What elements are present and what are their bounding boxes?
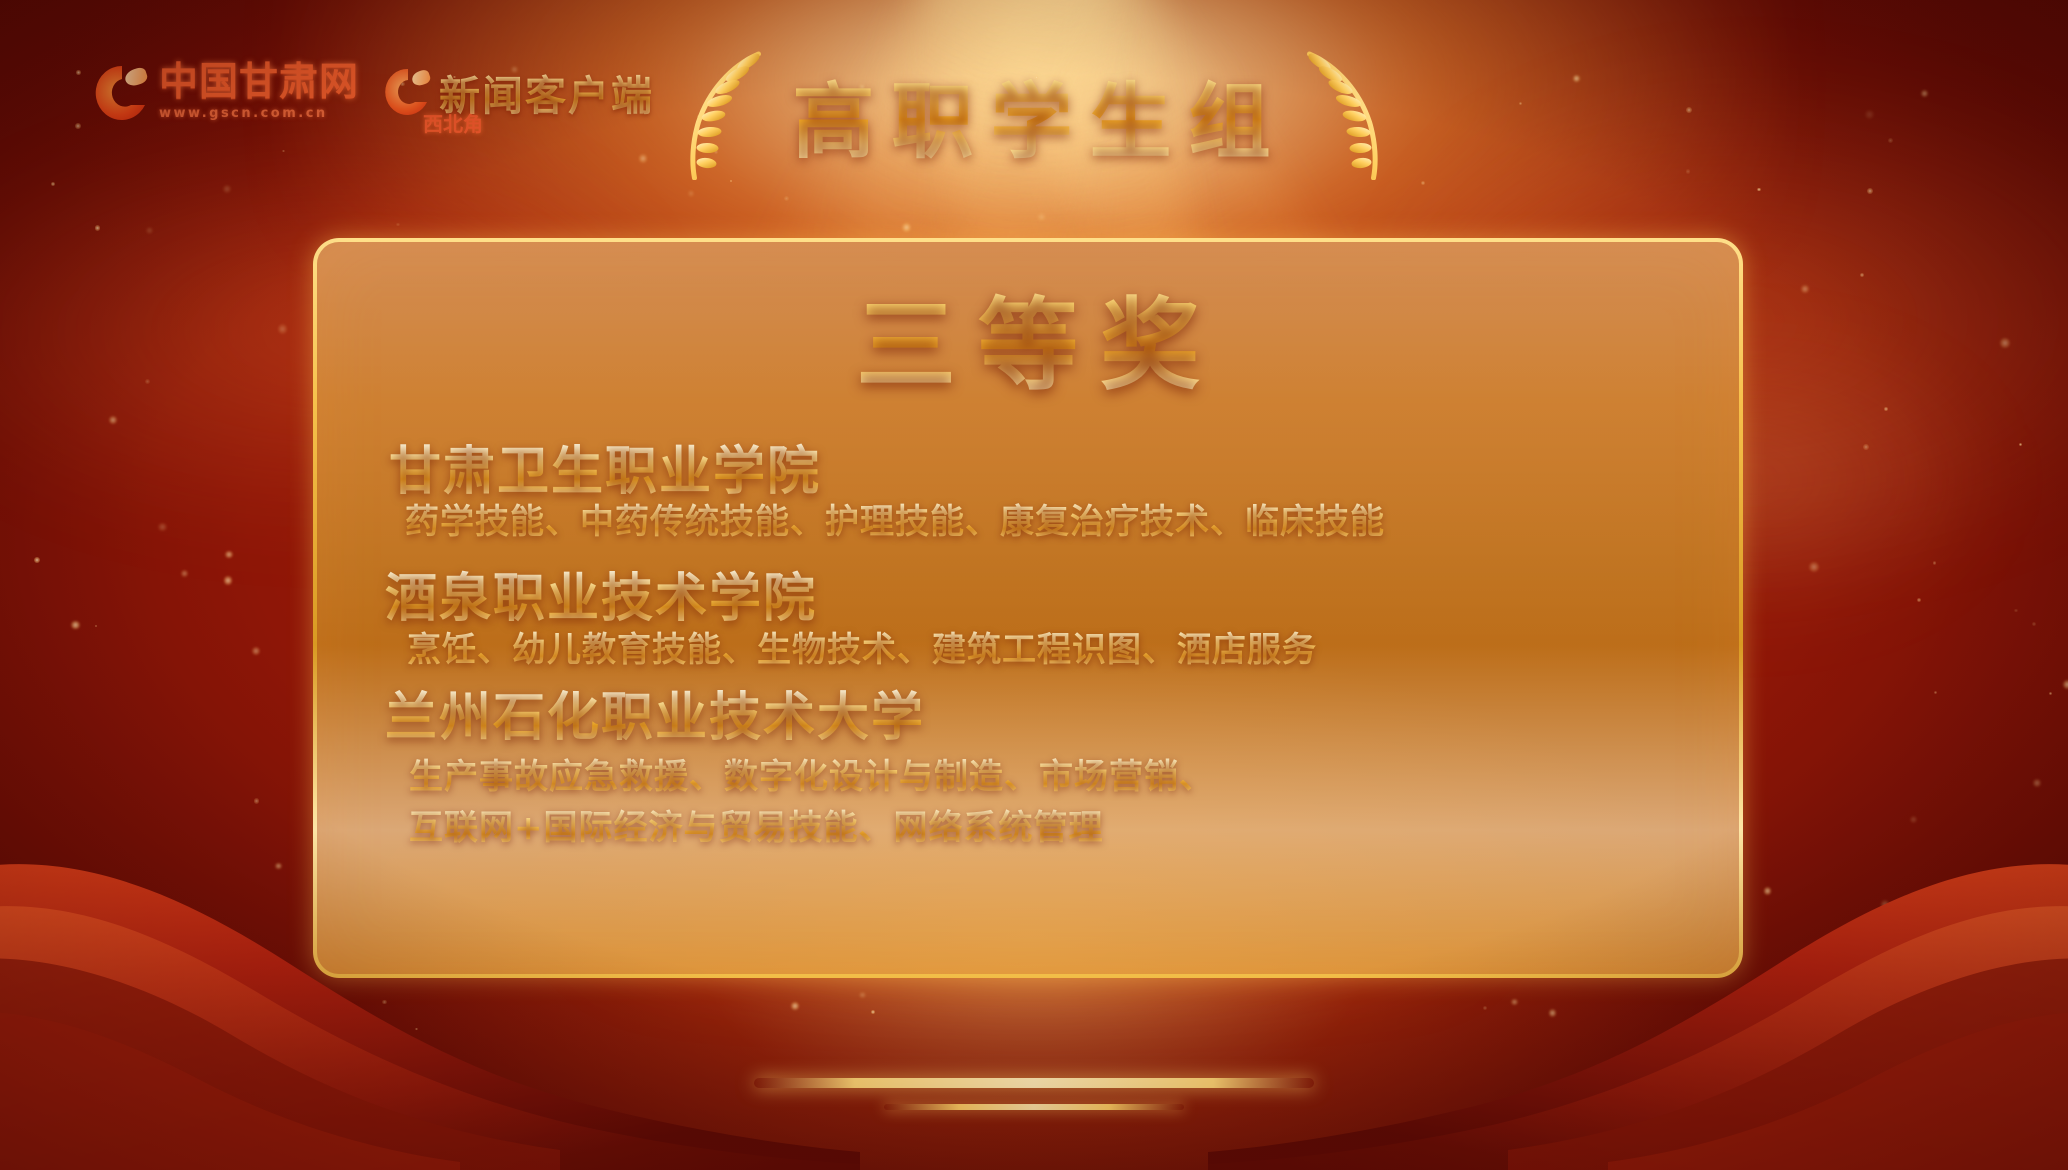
particle	[109, 416, 117, 424]
particle	[1037, 213, 1045, 221]
header: 中国甘肃网 www.gscn.com.cn 西北角 新闻客户端	[0, 0, 2068, 210]
particle	[871, 1010, 875, 1014]
award-plaque: 三等奖 甘肃卫生职业学院 药学技能、中药传统技能、护理技能、康复治疗技术、临床技…	[313, 238, 1743, 978]
particle	[95, 625, 98, 628]
particle	[95, 225, 101, 231]
winner-skills-line: 互联网+国际经济与贸易技能、网络系统管理	[409, 806, 1681, 851]
particle	[1764, 887, 1772, 895]
logo-gscn: 中国甘肃网 www.gscn.com.cn	[95, 63, 359, 121]
wheat-ear-icon	[1302, 48, 1394, 180]
particle	[859, 992, 866, 999]
logo-row: 中国甘肃网 www.gscn.com.cn 西北角 新闻客户端	[95, 62, 654, 122]
particle	[1917, 598, 1922, 603]
winner-skills-line: 烹饪、幼儿教育技能、生物技术、建筑工程识图、酒店服务	[407, 628, 1681, 673]
particle	[181, 570, 188, 577]
ceremony-slide: 中国甘肃网 www.gscn.com.cn 西北角 新闻客户端	[0, 0, 2068, 1170]
particle	[1863, 444, 1869, 450]
particle	[1939, 958, 1946, 965]
particle	[254, 798, 259, 803]
pedestal-bar-lower	[884, 1104, 1184, 1110]
particle	[2063, 680, 2068, 689]
particle	[1737, 1028, 1741, 1032]
winner-school-name: 兰州石化职业技术大学	[385, 688, 1681, 748]
particle	[1483, 1006, 1487, 1010]
logo-gscn-words: 中国甘肃网 www.gscn.com.cn	[159, 63, 359, 121]
winner-entry: 兰州石化职业技术大学 生产事故应急救援、数字化设计与制造、市场营销、 互联网+国…	[375, 688, 1681, 850]
winners-list: 甘肃卫生职业学院 药学技能、中药传统技能、护理技能、康复治疗技术、临床技能 酒泉…	[317, 442, 1739, 856]
particle	[1809, 562, 1819, 572]
particle	[158, 523, 166, 531]
winner-school-name: 酒泉职业技术学院	[385, 569, 1681, 629]
particle	[1801, 285, 1809, 293]
logo-xibeijiao-name: 西北角	[423, 108, 483, 137]
particle	[1998, 944, 2006, 952]
particle	[1881, 900, 1890, 909]
particle	[1934, 691, 1937, 694]
particle	[278, 324, 287, 333]
particle	[902, 223, 911, 232]
particle	[415, 1028, 418, 1031]
particle	[2063, 1029, 2068, 1039]
wheat-ear-icon	[674, 48, 766, 180]
particle	[2049, 692, 2052, 695]
particle	[225, 551, 233, 559]
particle	[34, 557, 40, 563]
page-title: 高职学生组	[780, 55, 1287, 174]
winner-school-name: 甘肃卫生职业学院	[389, 442, 1681, 502]
particle	[791, 1002, 799, 1010]
winner-skills-line: 药学技能、中药传统技能、护理技能、康复治疗技术、临床技能	[405, 500, 1681, 545]
particle	[146, 227, 153, 234]
particle	[1933, 561, 1937, 565]
particle	[275, 863, 281, 869]
winner-entry: 甘肃卫生职业学院 药学技能、中药传统技能、护理技能、康复治疗技术、临床技能	[375, 442, 1681, 545]
particle	[1549, 1009, 1557, 1017]
particle	[224, 576, 233, 585]
particle	[71, 921, 73, 923]
particle	[2032, 622, 2036, 626]
particle	[1511, 999, 1518, 1006]
winner-entry: 酒泉职业技术学院 烹饪、幼儿教育技能、生物技术、建筑工程识图、酒店服务	[375, 569, 1681, 672]
award-title: 三等奖	[317, 264, 1739, 409]
pedestal-bar-upper	[754, 1078, 1314, 1088]
particle	[2019, 443, 2022, 446]
particle	[396, 223, 399, 226]
logo-gscn-name: 中国甘肃网	[159, 63, 359, 102]
section-title-wrap: 高职学生组	[674, 48, 1393, 180]
particle	[2014, 609, 2017, 612]
particle	[71, 621, 80, 630]
particle	[1860, 273, 1864, 277]
particle	[1910, 816, 1917, 823]
particle	[252, 647, 260, 655]
particle	[2033, 779, 2041, 787]
logo-gscn-url: www.gscn.com.cn	[159, 106, 359, 121]
particle	[145, 379, 150, 384]
particle	[2000, 338, 2009, 347]
winner-skills-line: 生产事故应急救援、数字化设计与制造、市场营销、	[409, 755, 1681, 800]
particle	[1974, 956, 1983, 965]
particle	[305, 1039, 310, 1044]
particle	[1884, 407, 1888, 411]
logo-xibeijiao: 西北角 新闻客户端	[385, 62, 654, 122]
particle	[221, 1005, 228, 1012]
particle	[1828, 959, 1837, 968]
gscn-swirl-icon	[95, 65, 149, 121]
particle	[382, 1000, 386, 1004]
